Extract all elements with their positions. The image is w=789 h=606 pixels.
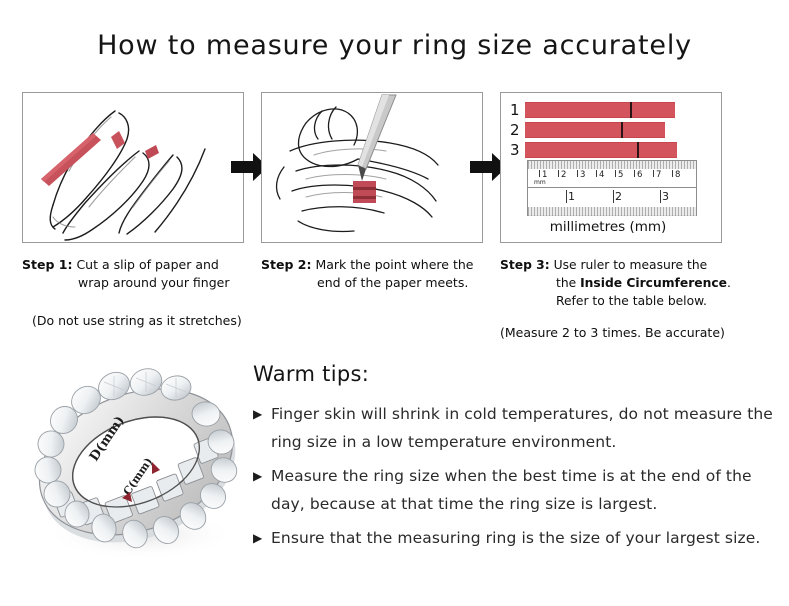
strip-number-1: 1 [510,103,525,118]
step-3-label: Step 3: [500,258,550,272]
step-2-panel [261,92,483,243]
warm-tip-item: ▶ Finger skin will shrink in cold temper… [253,400,773,456]
ruler-top-tick-6: 6 [637,171,642,180]
ruler-bottom-tick-2: 2 [615,191,622,202]
strip-mark-1 [630,102,632,118]
step-1-label: Step 1: [22,257,72,272]
ruler-top-tick-2: 2 [561,171,566,180]
warm-tip-text-3: Ensure that the measuring ring is the si… [271,524,760,552]
step-2-label: Step 2: [261,257,311,272]
wrapped-strip-shape [111,131,125,149]
step-2-column: Step 2: Mark the point where the end of … [261,92,500,292]
warm-tip-item: ▶ Ensure that the measuring ring is the … [253,524,773,552]
warm-tips-heading: Warm tips: [253,362,773,386]
paper-strip-1 [525,102,675,118]
step-3-inside-circumference-emphasis: Inside Circumference [580,276,727,290]
hand-marking-paper-illustration [262,93,482,242]
step-3-text-line3: Refer to the table below. [500,292,736,310]
triangle-bullet-icon: ▶ [253,462,271,490]
step-3-column: 1 2 3 [500,92,739,341]
ruler-unit-caption: millimetres (mm) [501,219,715,235]
step-3-text-line2-pre: the [556,276,580,290]
ruler-top-tick-3: 3 [580,171,585,180]
step-3-note: (Measure 2 to 3 times. Be accurate) [500,324,744,341]
strip-number-3: 3 [510,143,525,158]
step-1-panel [22,92,244,243]
paper-strip-shape [41,133,101,186]
triangle-bullet-icon: ▶ [253,524,271,552]
step-2-caption: Step 2: Mark the point where the end of … [261,256,497,292]
ruler-hatch-top [528,161,696,169]
step-2-text-line1: Mark the point where the [315,257,473,272]
ruler-metric-scale: mm 1 2 3 4 5 6 7 8 [527,160,697,188]
measured-strip-row-2: 2 [510,122,665,138]
step-2-text-line2: end of the paper meets. [261,274,497,292]
diamond-eternity-ring-diagram: D(mm) C(mm) [24,358,252,570]
ruler-bottom-tick-1: 1 [568,191,575,202]
warm-tip-text-1: Finger skin will shrink in cold temperat… [271,400,773,456]
step-1-caption: Step 1: Cut a slip of paper and wrap aro… [22,256,258,292]
step-1-text-line1: Cut a slip of paper and [76,257,218,272]
page-title: How to measure your ring size accurately [0,30,789,61]
ruler-bottom-tick-3: 3 [662,191,669,202]
measured-strip-row-1: 1 [510,102,675,118]
paper-strip-2 [525,122,665,138]
steps-row: Step 1: Cut a slip of paper and wrap aro… [0,92,789,342]
triangle-bullet-icon: ▶ [253,400,271,428]
ruler-top-tick-1: 1 [542,171,547,180]
ruler-top-tick-4: 4 [599,171,604,180]
step-3-text-line2: the Inside Circumference. [500,274,736,292]
ruler-top-tick-7: 7 [656,171,661,180]
step-1-note: (Do not use string as it stretches) [22,312,276,329]
paper-wrap-shape [353,181,376,203]
step-1-column: Step 1: Cut a slip of paper and wrap aro… [22,92,261,329]
ruler-graphic: mm 1 2 3 4 5 6 7 8 1 2 3 [527,160,697,216]
strip-mark-2 [621,122,623,138]
ruler-imperial-scale: 1 2 3 [527,187,697,216]
ruler-top-tick-5: 5 [618,171,623,180]
warm-tip-item: ▶ Measure the ring size when the best ti… [253,462,773,518]
strip-mark-3 [637,142,639,158]
step-3-text-line2-post: . [727,276,731,290]
strip-number-2: 2 [510,123,525,138]
ruler-top-tick-8: 8 [675,171,680,180]
ruler-hatch-bottom [528,207,696,216]
step-3-text-line1: Use ruler to measure the [554,258,708,272]
step-3-caption: Step 3: Use ruler to measure the the Ins… [500,256,736,310]
step-1-text-line2: wrap around your finger [22,274,258,292]
hand-with-paper-strip-illustration [23,93,243,242]
step-3-panel: 1 2 3 [500,92,722,243]
measured-strip-row-3: 3 [510,142,677,158]
warm-tip-text-2: Measure the ring size when the best time… [271,462,773,518]
warm-tips-section: Warm tips: ▶ Finger skin will shrink in … [253,362,773,558]
paper-strip-3 [525,142,677,158]
